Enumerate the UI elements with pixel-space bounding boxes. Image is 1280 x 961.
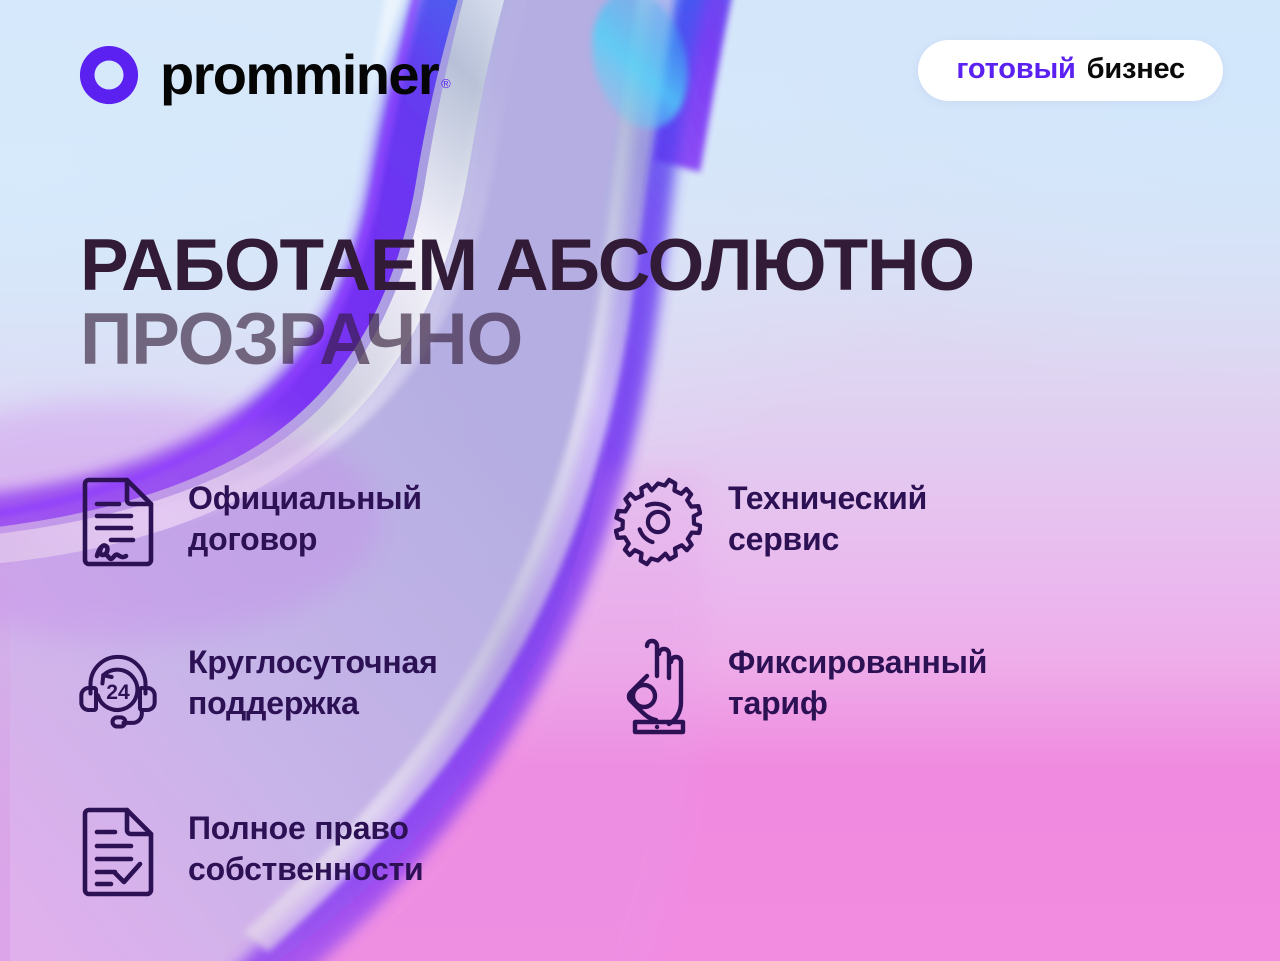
support-hours-text: 24 [106,681,130,704]
ok-hand-icon [614,634,702,742]
headline: РАБОТАЕМ АБСОЛЮТНО ПРОЗРАЧНО [80,231,1200,376]
feature-label-line-1: Круглосуточная [188,642,438,683]
promotional-banner: promminer ® готовый бизнес РАБОТАЕМ АБСО… [0,0,1280,961]
feature-label-full-ownership: Полное право собственности [188,800,424,890]
ready-business-badge[interactable]: готовый бизнес [918,40,1223,101]
feature-label-line-1: Технический [728,478,927,519]
feature-item-technical-service: Технический сервис [614,470,1144,578]
feature-item-full-ownership: Полное право собственности [74,800,604,908]
document-signature-icon [74,470,162,578]
feature-label-line-1: Официальный [188,478,422,519]
feature-label-line-1: Фиксированный [728,642,987,683]
headline-line-2: ПРОЗРАЧНО [80,305,1200,376]
badge-main-word: бизнес [1087,55,1185,84]
registered-mark: ® [441,77,451,90]
document-checklist-icon [74,800,162,908]
feature-label-line-2: сервис [728,519,927,560]
feature-label-line-2: поддержка [188,683,438,724]
feature-label-line-2: тариф [728,683,987,724]
headset-24h-icon: 24 [74,634,162,742]
feature-label-line-2: собственности [188,849,424,890]
feature-label-official-contract: Официальный договор [188,470,422,560]
feature-label-line-1: Полное право [188,808,424,849]
headline-line-1: РАБОТАЕМ АБСОЛЮТНО [80,231,1200,302]
gear-icon [614,470,702,578]
feature-item-fixed-rate: Фиксированный тариф [614,634,1144,742]
feature-item-24h-support: 24 Круглосуточная поддержка [74,634,604,742]
brand-logo[interactable]: promminer ® [78,44,451,106]
brand-name: promminer [160,47,438,103]
feature-label-technical-service: Технический сервис [728,470,927,560]
feature-item-official-contract: Официальный договор [74,470,604,578]
feature-label-fixed-rate: Фиксированный тариф [728,634,987,724]
feature-label-24h-support: Круглосуточная поддержка [188,634,438,724]
feature-label-line-2: договор [188,519,422,560]
promminer-ring-logo-icon [78,44,140,106]
feature-list: Официальный договор Технический сервис [74,470,1174,908]
banner-header: promminer ® готовый бизнес [0,0,1280,140]
badge-accent-word: готовый [956,55,1075,84]
